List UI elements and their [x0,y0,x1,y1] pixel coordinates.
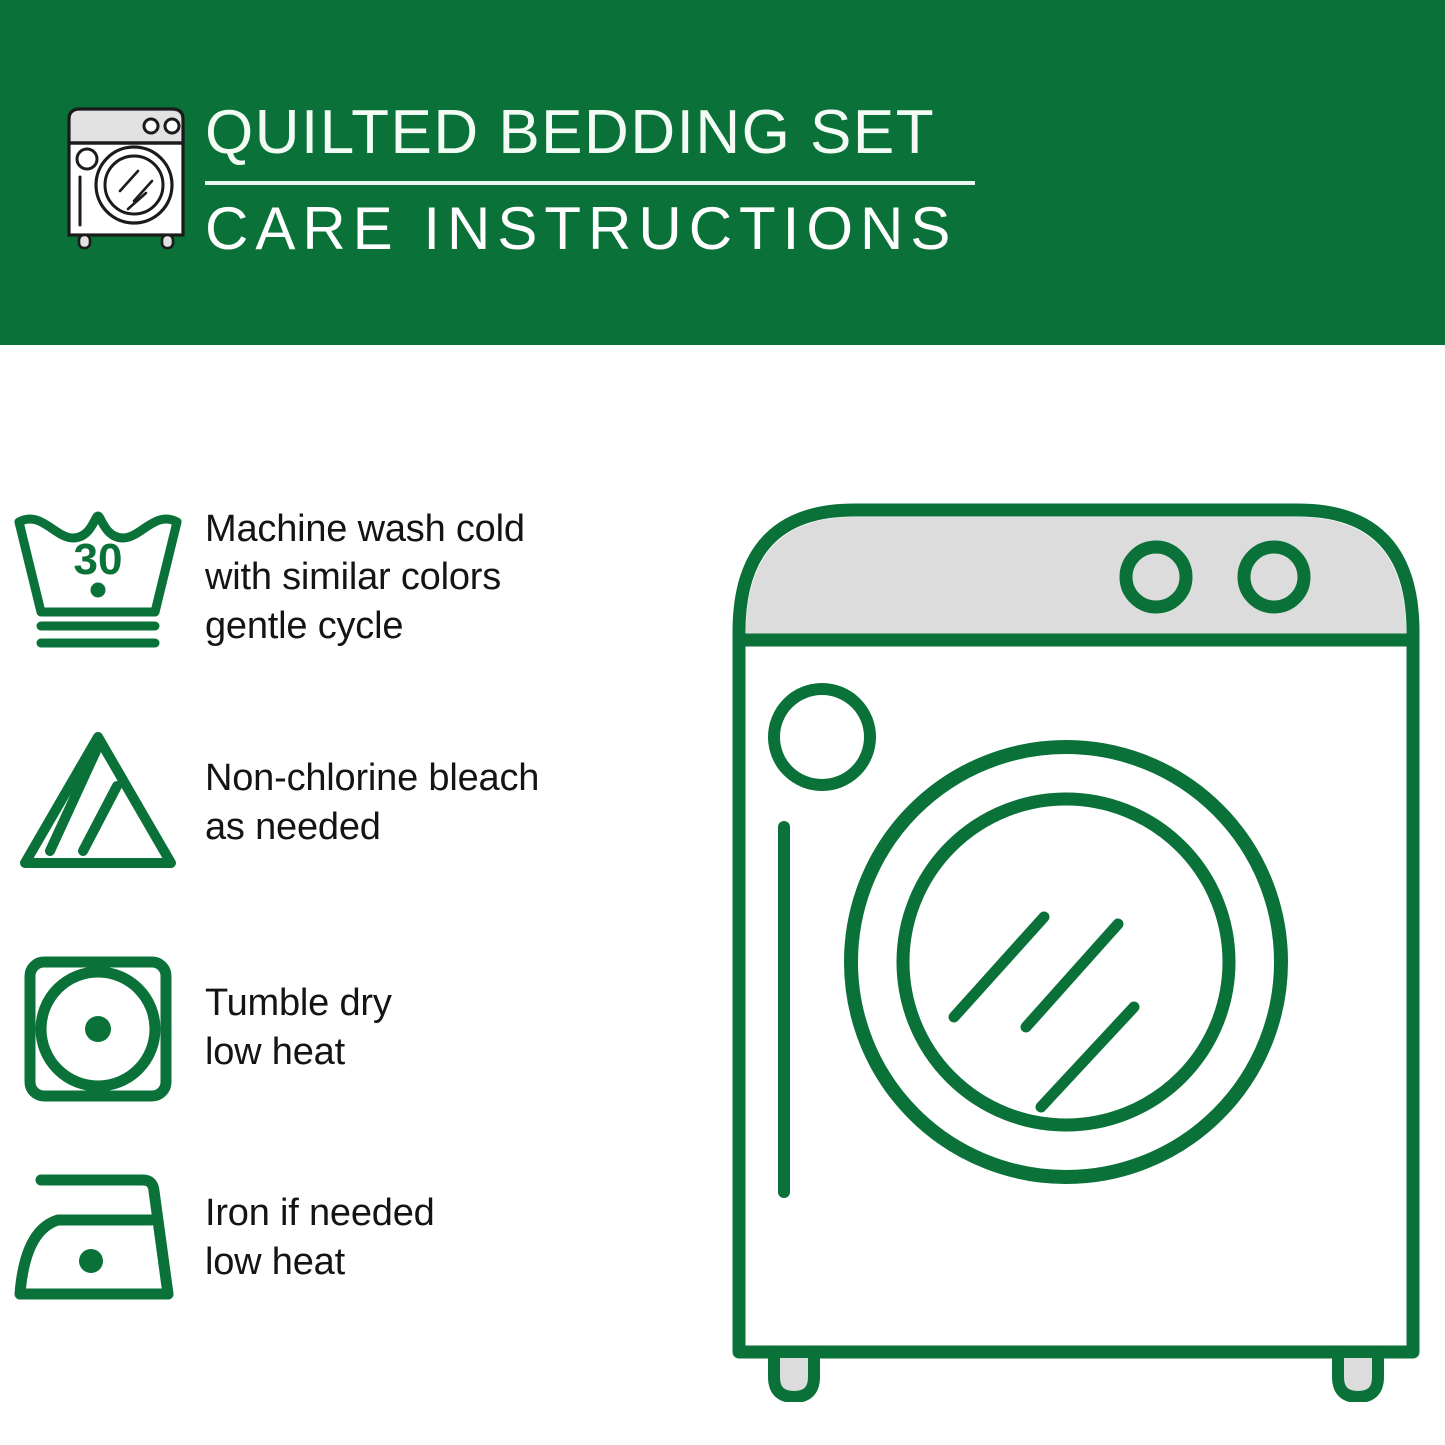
washing-machine-icon [62,103,190,251]
care-text-line: Machine wash cold [205,505,525,554]
care-text-line: as needed [205,803,539,852]
care-text-line: low heat [205,1028,392,1077]
care-text-tumble-dry: Tumble dry low heat [195,979,392,1076]
care-text-line: with similar colors [205,553,525,602]
care-row-tumble-dry: Tumble dry low heat [0,945,700,1110]
iron-low-heat-symbol [0,1155,195,1320]
care-row-bleach: Non-chlorine bleach as needed [0,720,700,885]
page-subtitle: CARE INSTRUCTIONS [205,197,995,260]
care-instructions-page: QUILTED BEDDING SET CARE INSTRUCTIONS 30 [0,0,1445,1445]
care-text-machine-wash: Machine wash cold with similar colors ge… [195,505,525,651]
care-text-iron: Iron if needed low heat [195,1189,435,1286]
header-text-block: QUILTED BEDDING SET CARE INSTRUCTIONS [205,100,995,260]
care-text-line: Non-chlorine bleach [205,754,539,803]
non-chlorine-bleach-symbol [0,720,195,885]
machine-wash-30-gentle-symbol: 30 [0,495,195,660]
care-row-machine-wash: 30 Machine wash cold with similar colors… [0,495,700,660]
page-title: QUILTED BEDDING SET [205,100,995,167]
large-washing-machine-illustration [706,462,1445,1402]
header-divider [205,181,975,185]
care-text-line: gentle cycle [205,602,525,651]
header-banner: QUILTED BEDDING SET CARE INSTRUCTIONS [0,0,1445,345]
care-text-line: Tumble dry [205,979,392,1028]
tumble-dry-low-symbol [0,945,195,1110]
care-text-line: Iron if needed [205,1189,435,1238]
svg-text:30: 30 [73,535,122,584]
care-row-iron: Iron if needed low heat [0,1155,700,1320]
care-instruction-list: 30 Machine wash cold with similar colors… [0,345,700,1445]
care-text-bleach: Non-chlorine bleach as needed [195,754,539,851]
care-text-line: low heat [205,1238,435,1287]
